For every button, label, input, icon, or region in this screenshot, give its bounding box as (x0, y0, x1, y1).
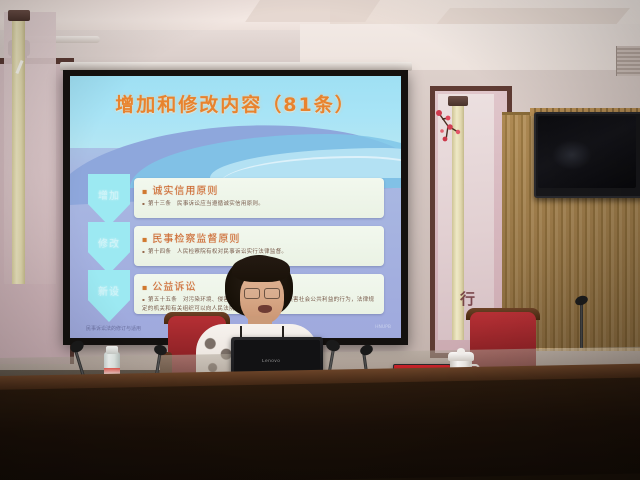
slide-row-body: 第十三条 民事诉讼应当遵循诚实信用原则。 (142, 200, 376, 209)
slide-title: 增加和修改内容（81条） (70, 90, 401, 117)
decor-scroll-right-cap (448, 96, 468, 106)
slide-row-tag: 修改 (98, 235, 120, 250)
slide-row-chevron: 新设 (88, 270, 130, 322)
water-bottle-cap (106, 346, 118, 354)
slide-footer-right: HNUPB (375, 325, 391, 330)
slide-footer-left: 民事诉讼法的修订与适用 (86, 325, 141, 332)
speaker-mouth (258, 305, 272, 313)
plum-blossom-icon (436, 110, 466, 158)
tea-cup-knob (457, 348, 465, 354)
ceiling-seam (245, 0, 380, 22)
slide-row-chevron: 修改 (88, 222, 130, 274)
slide-row-tag: 新设 (98, 283, 120, 298)
conference-room-photo: 行 增加和修改内容（81条） 增加 诚实信用原则 第十三条 民事诉讼应当遵循诚实… (0, 0, 640, 480)
tv-screen-reflection (552, 140, 592, 170)
slide-row-heading: 民事检察监督原则 (142, 230, 376, 245)
slide-row: 增加 诚实信用原则 第十三条 民事诉讼应当遵循诚实信用原则。 (88, 178, 384, 222)
decor-scroll-left-cap (8, 10, 30, 21)
air-vent-icon (616, 46, 640, 76)
slide-row-tag: 增加 (98, 187, 120, 202)
ceiling-seam-secondary (437, 8, 630, 24)
speaker-fringe (232, 256, 290, 282)
slide-row-card: 诚实信用原则 第十三条 民事诉讼应当遵循诚实信用原则。 (134, 178, 384, 218)
laptop-brand-logo: Lenovo (262, 358, 280, 363)
slide-row-heading: 诚实信用原则 (142, 182, 376, 197)
slide-row-chevron: 增加 (88, 174, 130, 226)
decor-character: 行 (460, 288, 482, 310)
speaker-eyeglasses-icon (244, 288, 280, 297)
desk-front-panel (0, 377, 640, 480)
wall-microphone-stem (580, 300, 583, 348)
decor-scroll-left (12, 18, 25, 284)
